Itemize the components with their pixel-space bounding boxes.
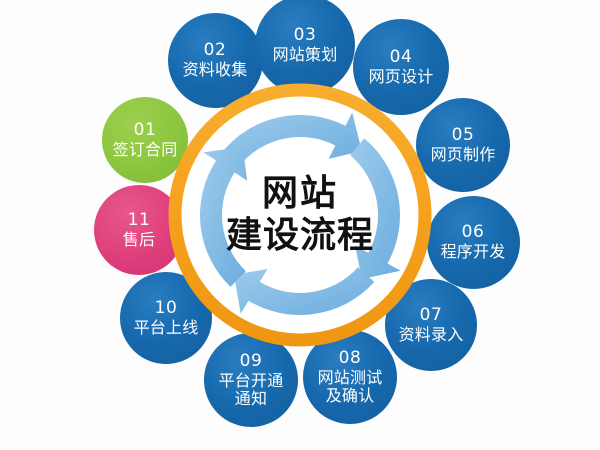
process-node-number: 07 [420, 306, 443, 325]
process-node-label: 平台上线 [130, 319, 203, 337]
center-title: 网站 建设流程 [175, 150, 425, 280]
process-node-number: 04 [390, 48, 413, 67]
process-node-label: 网站测试 及确认 [314, 369, 387, 405]
process-node-label: 签订合同 [109, 141, 182, 159]
process-node-label: 网页设计 [365, 68, 438, 86]
process-node-number: 11 [128, 211, 151, 230]
process-node-07[interactable]: 07资料录入 [385, 279, 477, 371]
process-node-number: 03 [294, 26, 317, 45]
process-node-label: 平台开通 通知 [215, 372, 288, 408]
center-title-line1: 网站 [262, 173, 338, 215]
process-node-number: 02 [204, 41, 227, 60]
process-node-09[interactable]: 09平台开通 通知 [204, 333, 298, 427]
process-node-number: 01 [134, 121, 157, 140]
process-node-number: 08 [339, 349, 362, 368]
process-node-04[interactable]: 04网页设计 [353, 19, 449, 115]
process-node-label: 网页制作 [427, 146, 500, 164]
process-node-label: 资料录入 [395, 326, 468, 344]
process-diagram: 01签订合同02资料收集03网站策划04网页设计05网页制作06程序开发07资料… [0, 0, 600, 450]
process-node-label: 售后 [119, 231, 159, 249]
process-node-02[interactable]: 02资料收集 [168, 13, 263, 108]
process-node-number: 05 [452, 126, 475, 145]
process-node-06[interactable]: 06程序开发 [427, 196, 520, 289]
process-node-08[interactable]: 08网站测试 及确认 [303, 330, 397, 424]
process-node-label: 程序开发 [437, 243, 510, 261]
process-node-10[interactable]: 10平台上线 [120, 272, 212, 364]
process-node-03[interactable]: 03网站策划 [255, 0, 355, 95]
process-node-label: 资料收集 [179, 61, 252, 79]
process-node-11[interactable]: 11售后 [94, 185, 184, 275]
process-node-05[interactable]: 05网页制作 [416, 98, 510, 192]
process-node-label: 网站策划 [269, 46, 342, 64]
center-title-line2: 建设流程 [226, 215, 374, 257]
process-node-number: 06 [462, 223, 485, 242]
process-node-number: 10 [155, 299, 178, 318]
process-node-number: 09 [240, 352, 263, 371]
